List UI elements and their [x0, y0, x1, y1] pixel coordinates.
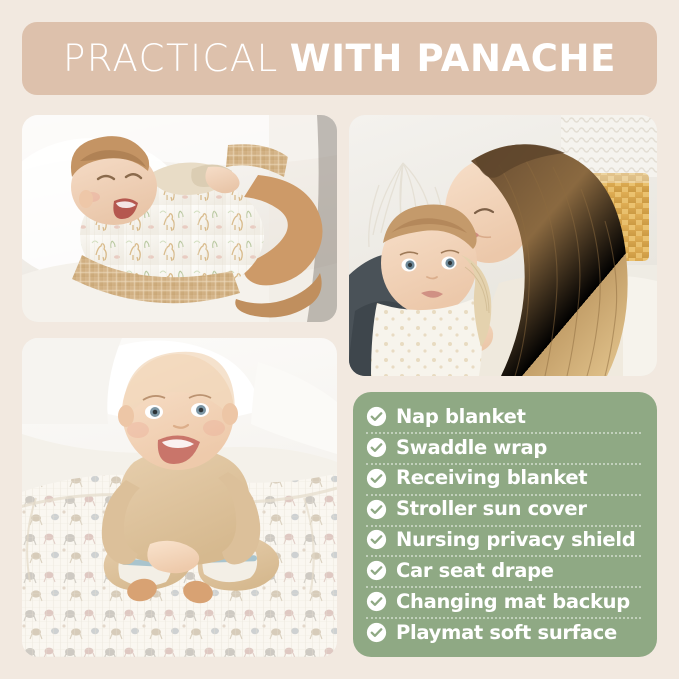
- check-circle-icon: [366, 406, 387, 427]
- photo-mother-kissing-baby: [349, 115, 657, 376]
- photo-mother-kissing-baby-image: [349, 115, 657, 376]
- list-item-label: Nap blanket: [396, 407, 526, 427]
- product-infographic: PRACTICAL WITH PANACHE: [0, 0, 679, 679]
- list-item-label: Stroller sun cover: [396, 499, 587, 519]
- list-item-label: Nursing privacy shield: [396, 530, 635, 550]
- photo-baby-sitting-on-blanket-image: [22, 338, 337, 657]
- page-title: PRACTICAL WITH PANACHE: [63, 40, 616, 77]
- photo-baby-in-swaddle-image: [22, 115, 337, 322]
- check-circle-icon: [366, 560, 387, 581]
- page-title-light: PRACTICAL: [63, 40, 279, 77]
- check-circle-icon: [366, 529, 387, 550]
- check-circle-icon: [366, 437, 387, 458]
- list-item: Stroller sun cover: [366, 494, 645, 525]
- check-circle-icon: [366, 591, 387, 612]
- check-circle-icon: [366, 499, 387, 520]
- list-item: Receiving blanket: [366, 463, 645, 494]
- list-item: Swaddle wrap: [366, 432, 645, 463]
- list-item-label: Playmat soft surface: [396, 623, 617, 643]
- check-circle-icon: [366, 468, 387, 489]
- list-item: Nursing privacy shield: [366, 525, 645, 556]
- list-item-label: Changing mat backup: [396, 592, 630, 612]
- list-item-label: Car seat drape: [396, 561, 554, 581]
- page-title-bold: WITH PANACHE: [290, 40, 616, 77]
- photo-baby-sitting-on-blanket: [22, 338, 337, 657]
- header-banner: PRACTICAL WITH PANACHE: [22, 22, 657, 95]
- photo-baby-in-swaddle: [22, 115, 337, 322]
- list-item: Playmat soft surface: [366, 617, 645, 648]
- list-item: Changing mat backup: [366, 586, 645, 617]
- list-item-label: Receiving blanket: [396, 468, 587, 488]
- feature-list-panel: Nap blanket Swaddle wrap Receiving blank…: [353, 392, 657, 657]
- list-item-label: Swaddle wrap: [396, 438, 547, 458]
- check-circle-icon: [366, 622, 387, 643]
- list-item: Car seat drape: [366, 555, 645, 586]
- list-item: Nap blanket: [366, 401, 645, 432]
